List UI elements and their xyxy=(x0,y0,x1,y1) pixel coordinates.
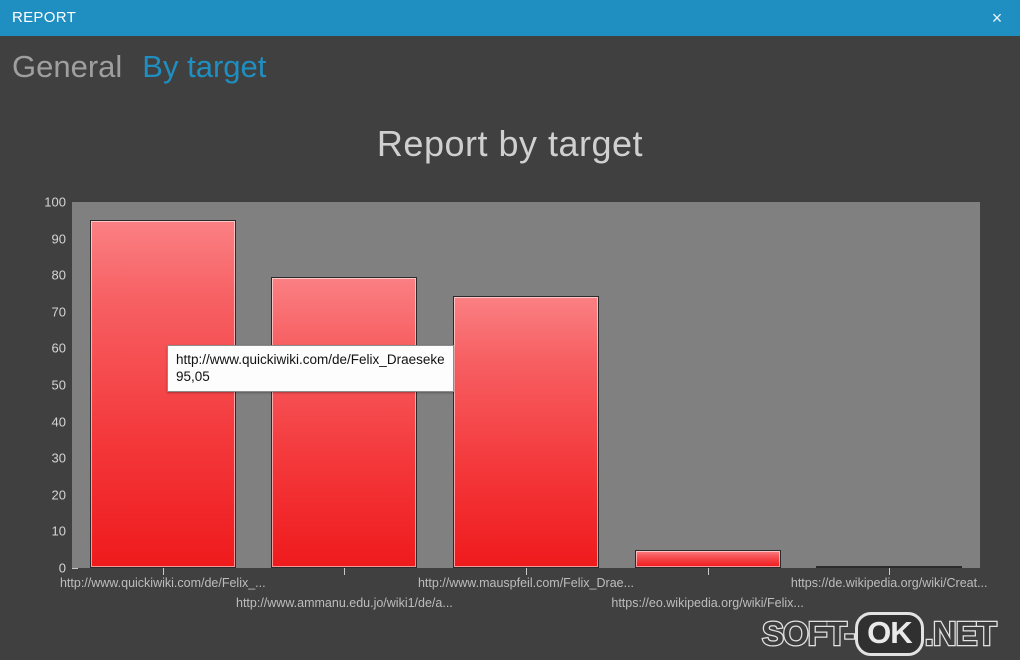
x-axis-label: http://www.ammanu.edu.jo/wiki1/de/a... xyxy=(236,596,453,610)
watermark-prefix: SOFT- xyxy=(762,615,854,653)
y-axis-tick xyxy=(72,568,78,569)
x-axis-tick xyxy=(163,568,164,575)
chart-bar[interactable] xyxy=(271,277,417,568)
bar-chart: 0102030405060708090100 http://www.quicki… xyxy=(0,0,1020,660)
x-axis-tick xyxy=(889,568,890,575)
chart-bar[interactable] xyxy=(635,550,781,568)
chart-bar[interactable] xyxy=(90,220,236,568)
x-axis-tick xyxy=(526,568,527,575)
chart-bar[interactable] xyxy=(453,296,599,568)
tooltip-url: http://www.quickiwiki.com/de/Felix_Draes… xyxy=(176,351,445,368)
y-axis-ticks xyxy=(18,202,80,568)
x-axis-tick xyxy=(708,568,709,575)
watermark-badge: OK xyxy=(855,612,924,656)
x-axis-label: https://eo.wikipedia.org/wiki/Felix... xyxy=(611,596,803,610)
x-axis-label: https://de.wikipedia.org/wiki/Creat... xyxy=(791,576,988,590)
x-axis-label: http://www.mauspfeil.com/Felix_Drae... xyxy=(418,576,634,590)
tooltip-value: 95,05 xyxy=(176,368,445,385)
x-axis-tick xyxy=(344,568,345,575)
watermark-suffix: .NET xyxy=(925,615,996,653)
bar-tooltip: http://www.quickiwiki.com/de/Felix_Draes… xyxy=(167,345,454,392)
watermark: SOFT- OK .NET xyxy=(762,612,996,656)
x-axis-label: http://www.quickiwiki.com/de/Felix_... xyxy=(60,576,266,590)
